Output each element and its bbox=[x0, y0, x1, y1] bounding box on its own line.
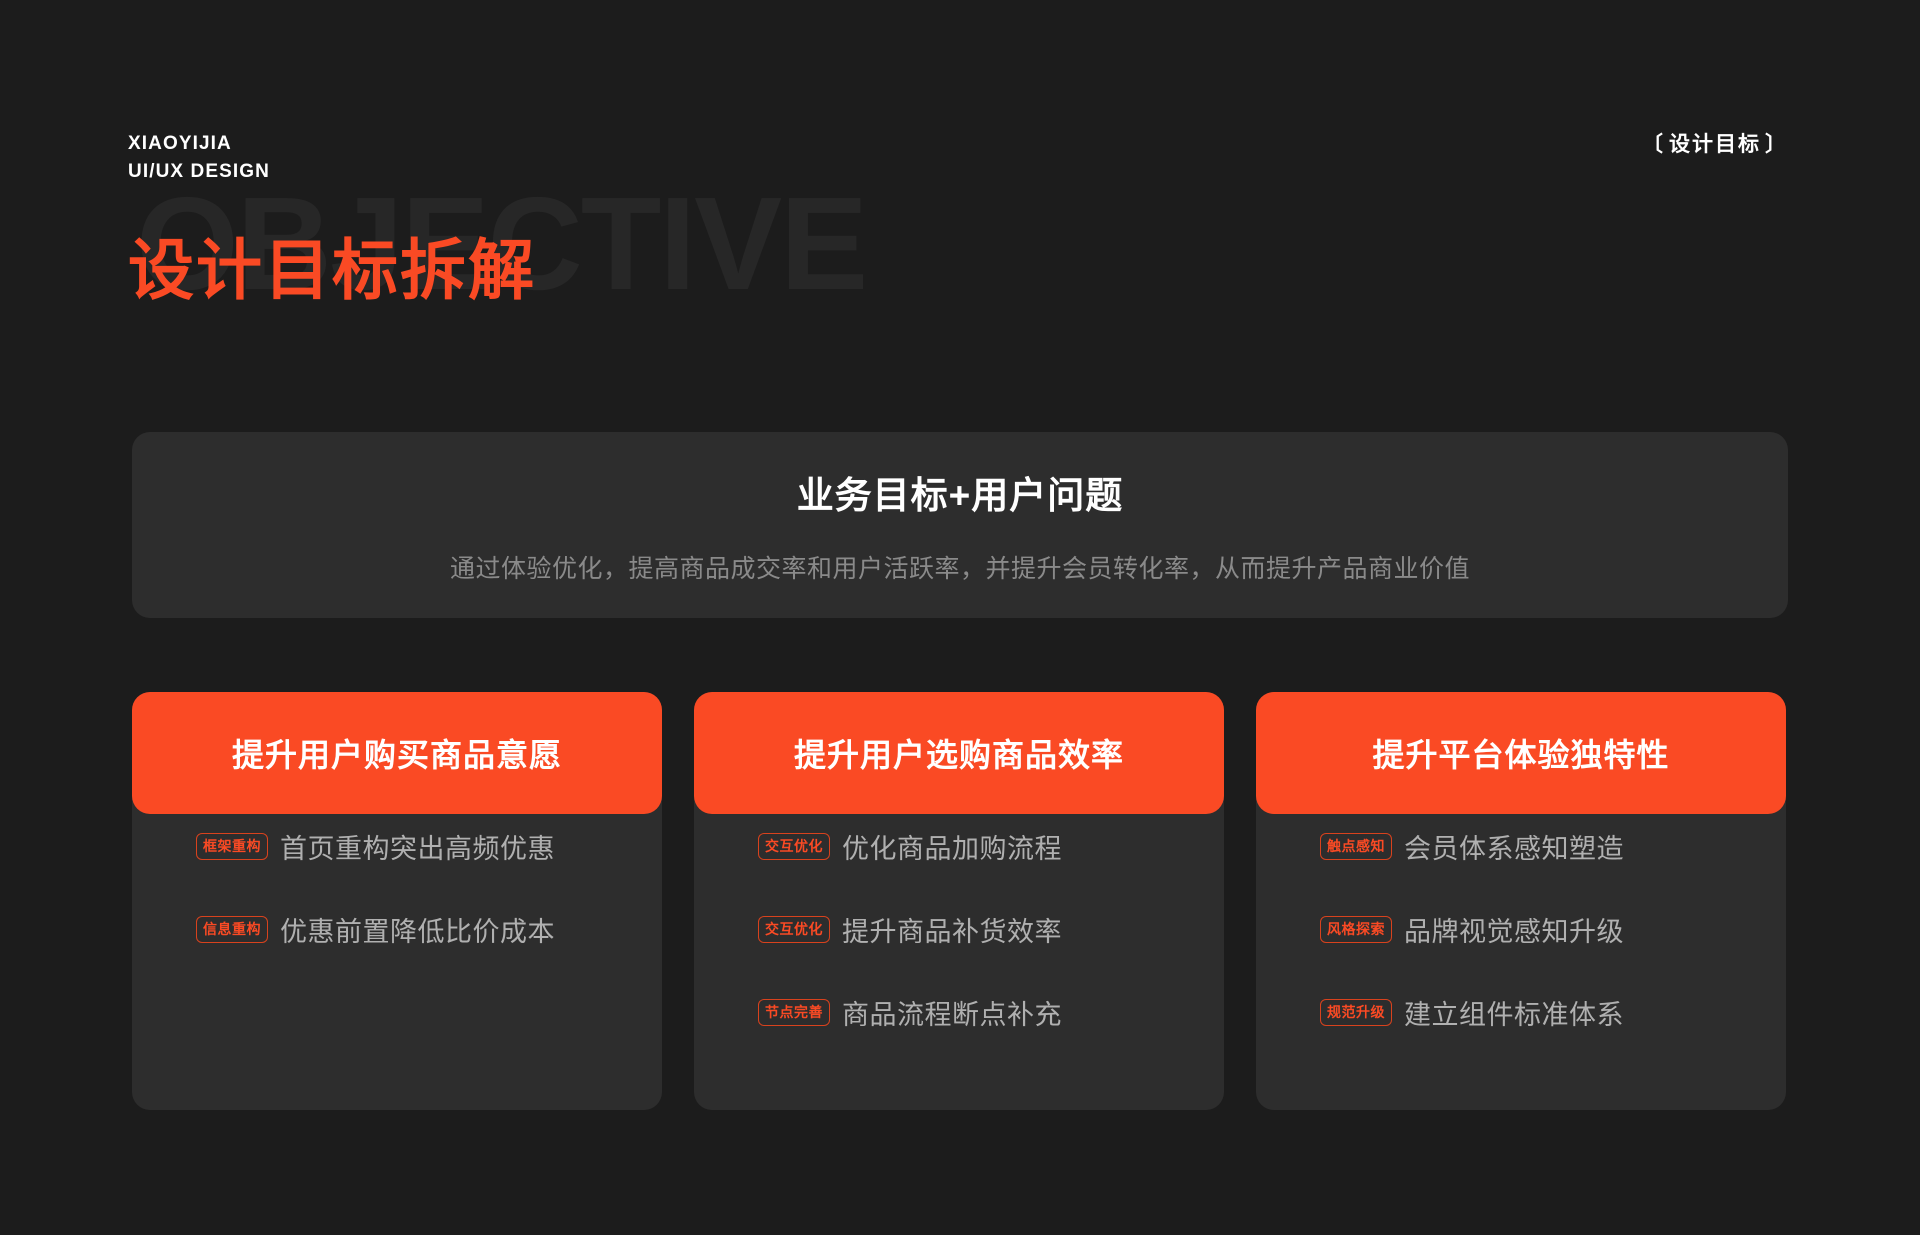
objective-column-header[interactable]: 提升平台体验独特性 bbox=[1256, 692, 1786, 814]
objective-row-text: 优惠前置降低比价成本 bbox=[280, 910, 555, 949]
objective-column-header-label: 提升用户购买商品意愿 bbox=[232, 730, 562, 776]
objective-row[interactable]: 规范升级建立组件标准体系 bbox=[1320, 993, 1758, 1032]
objective-row[interactable]: 触点感知会员体系感知塑造 bbox=[1320, 827, 1758, 866]
objective-row-tag: 交互优化 bbox=[758, 833, 830, 860]
objective-row-tag: 触点感知 bbox=[1320, 833, 1392, 860]
objective-row[interactable]: 交互优化优化商品加购流程 bbox=[758, 827, 1196, 866]
objective-row-text: 品牌视觉感知升级 bbox=[1404, 910, 1624, 949]
objective-column-header[interactable]: 提升用户购买商品意愿 bbox=[132, 692, 662, 814]
objective-row[interactable]: 信息重构优惠前置降低比价成本 bbox=[196, 910, 634, 949]
objective-row-tag: 交互优化 bbox=[758, 916, 830, 943]
objective-column-header[interactable]: 提升用户选购商品效率 bbox=[694, 692, 1224, 814]
objective-columns: 框架重构首页重构突出高频优惠信息重构优惠前置降低比价成本提升用户购买商品意愿交互… bbox=[132, 692, 1788, 1110]
banner-title: 业务目标+用户问题 bbox=[797, 465, 1124, 519]
objective-row-tag: 节点完善 bbox=[758, 999, 830, 1026]
objective-row[interactable]: 节点完善商品流程断点补充 bbox=[758, 993, 1196, 1032]
brace-left-icon: 〔 bbox=[1638, 128, 1669, 158]
objective-row-tag: 信息重构 bbox=[196, 916, 268, 943]
objective-column: 触点感知会员体系感知塑造风格探索品牌视觉感知升级规范升级建立组件标准体系提升平台… bbox=[1256, 692, 1786, 1110]
objective-row-text: 首页重构突出高频优惠 bbox=[280, 827, 555, 866]
objective-row-text: 优化商品加购流程 bbox=[842, 827, 1062, 866]
banner-subtitle: 通过体验优化，提高商品成交率和用户活跃率，并提升会员转化率，从而提升产品商业价值 bbox=[450, 549, 1470, 585]
brand-line-1: XIAOYIJIA bbox=[128, 130, 270, 158]
objective-row-text: 建立组件标准体系 bbox=[1404, 993, 1624, 1032]
objective-row-text: 会员体系感知塑造 bbox=[1404, 827, 1624, 866]
section-eyebrow-label: 设计目标 bbox=[1669, 133, 1761, 156]
objective-row[interactable]: 交互优化提升商品补货效率 bbox=[758, 910, 1196, 949]
objective-row-tag: 框架重构 bbox=[196, 833, 268, 860]
objective-column-header-label: 提升用户选购商品效率 bbox=[794, 730, 1124, 776]
objective-column: 框架重构首页重构突出高频优惠信息重构优惠前置降低比价成本提升用户购买商品意愿 bbox=[132, 692, 662, 1110]
objective-row[interactable]: 框架重构首页重构突出高频优惠 bbox=[196, 827, 634, 866]
objective-row-tag: 规范升级 bbox=[1320, 999, 1392, 1026]
objective-column-header-label: 提升平台体验独特性 bbox=[1372, 730, 1669, 776]
objective-row-text: 商品流程断点补充 bbox=[842, 993, 1062, 1032]
objective-row[interactable]: 风格探索品牌视觉感知升级 bbox=[1320, 910, 1758, 949]
slide-root: XIAOYIJIA UI/UX DESIGN 〔设计目标〕 OBJECTIVE … bbox=[0, 0, 1920, 1235]
objective-row-tag: 风格探索 bbox=[1320, 916, 1392, 943]
objective-row-text: 提升商品补货效率 bbox=[842, 910, 1062, 949]
objective-banner: 业务目标+用户问题 通过体验优化，提高商品成交率和用户活跃率，并提升会员转化率，… bbox=[132, 432, 1788, 618]
objective-column: 交互优化优化商品加购流程交互优化提升商品补货效率节点完善商品流程断点补充提升用户… bbox=[694, 692, 1224, 1110]
page-title-main: 设计目标拆解 bbox=[128, 231, 536, 309]
brace-right-icon: 〕 bbox=[1761, 128, 1792, 158]
section-eyebrow: 〔设计目标〕 bbox=[1638, 128, 1792, 158]
